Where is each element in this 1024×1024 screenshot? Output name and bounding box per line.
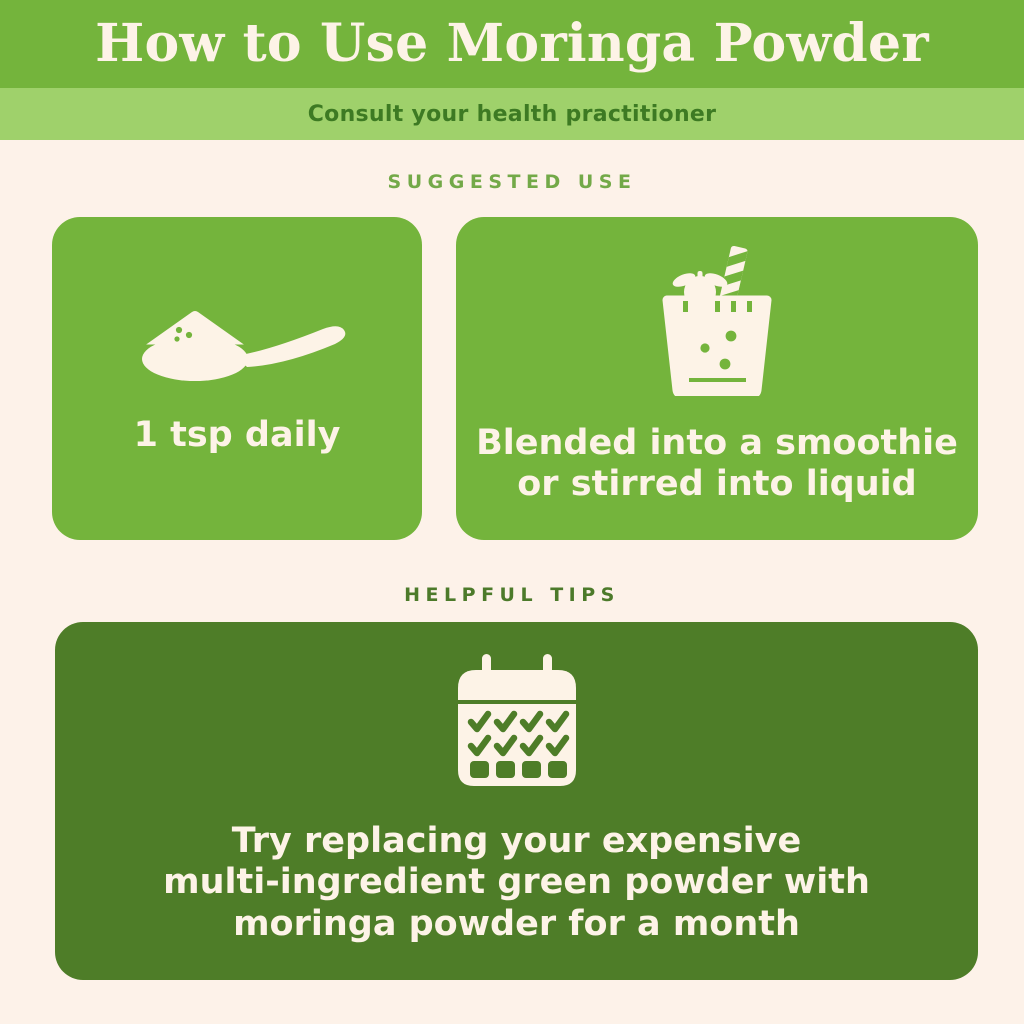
card-tip: Try replacing your expensive multi-ingre… [55,622,978,980]
card-dose: 1 tsp daily [52,217,422,540]
page-title: How to Use Moringa Powder [95,18,929,70]
page-subtitle: Consult your health practitioner [308,102,717,127]
smoothie-glass-icon [653,244,781,401]
card-dose-label: 1 tsp daily [134,415,341,456]
spoon-of-powder-icon [123,305,351,388]
calendar-with-checkmarks-icon [452,652,582,797]
section-label-suggested-use: SUGGESTED USE [0,171,1024,193]
card-mixing: Blended into a smoothie or stirred into … [456,217,978,540]
card-tip-label: Try replacing your expensive multi-ingre… [163,821,870,945]
infographic-page: How to Use Moringa Powder Consult your h… [0,0,1024,1024]
section-label-helpful-tips: HELPFUL TIPS [0,584,1024,606]
card-mixing-label: Blended into a smoothie or stirred into … [476,423,958,506]
subheader-band: Consult your health practitioner [0,88,1024,140]
header-band: How to Use Moringa Powder [0,0,1024,88]
